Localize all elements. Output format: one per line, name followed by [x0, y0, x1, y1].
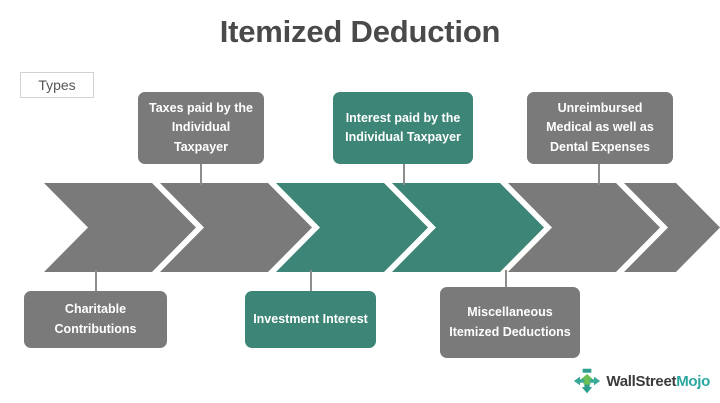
- label-box-taxes-paid: Taxes paid by the Individual Taxpayer: [138, 92, 264, 164]
- connector-top-1: [200, 163, 202, 185]
- infographic-root: Itemized Deduction Types Taxes paid b: [0, 0, 720, 403]
- label-text: Unreimbursed Medical as well as Dental E…: [533, 99, 667, 157]
- connector-top-3: [598, 163, 600, 185]
- types-legend-label: Types: [38, 77, 75, 93]
- label-text: Charitable Contributions: [30, 300, 161, 339]
- connector-bottom-2: [310, 270, 312, 292]
- connector-top-2: [403, 163, 405, 185]
- arrows-logo-icon: [573, 367, 601, 395]
- chevron-band: [0, 183, 720, 272]
- label-text: Investment Interest: [253, 310, 368, 329]
- chevron-1: [44, 183, 196, 272]
- logo-name-accent: Mojo: [676, 373, 710, 390]
- types-legend-box: Types: [20, 72, 94, 98]
- label-box-charitable-contributions: Charitable Contributions: [24, 291, 167, 348]
- wallstreetmojo-logo: WallStreetMojo: [573, 367, 710, 395]
- logo-name-primary: WallStreet: [606, 373, 676, 390]
- label-box-interest-paid: Interest paid by the Individual Taxpayer: [333, 92, 473, 164]
- logo-wordmark: WallStreetMojo: [606, 373, 710, 390]
- label-text: Interest paid by the Individual Taxpayer: [339, 109, 467, 148]
- connector-bottom-1: [95, 270, 97, 292]
- label-box-unreimbursed-medical: Unreimbursed Medical as well as Dental E…: [527, 92, 673, 164]
- label-box-miscellaneous-itemized: Miscellaneous Itemized Deductions: [440, 287, 580, 358]
- label-box-investment-interest: Investment Interest: [245, 291, 376, 348]
- page-title: Itemized Deduction: [0, 14, 720, 50]
- label-text: Taxes paid by the Individual Taxpayer: [144, 99, 258, 157]
- label-text: Miscellaneous Itemized Deductions: [446, 303, 574, 342]
